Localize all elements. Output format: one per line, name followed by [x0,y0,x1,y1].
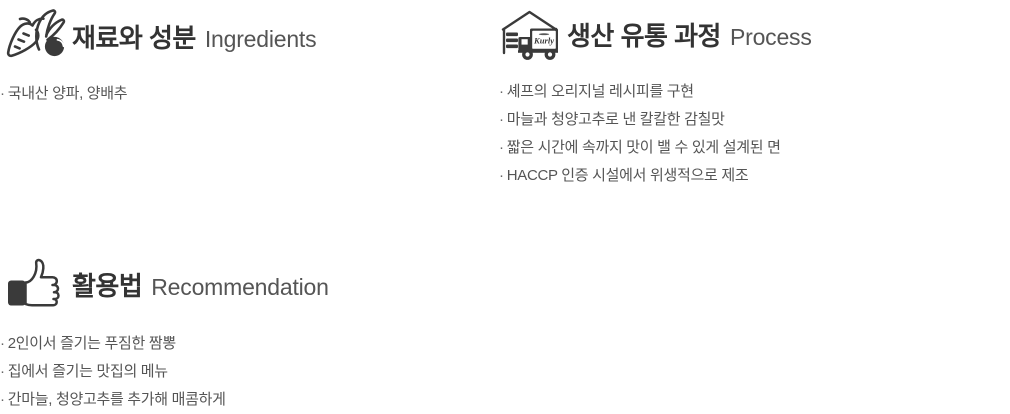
section-title-ko: 재료와 성분 [72,18,196,55]
list-item-text: 2인이서 즐기는 푸짐한 짬뽕 [8,330,176,358]
bullet-marker: · [499,106,504,134]
list-item: · 짧은 시간에 속까지 맛이 밸 수 있게 설계된 면 [499,134,812,162]
list-item-text: 집에서 즐기는 맛집의 메뉴 [8,358,168,386]
carrot-vegetables-icon [0,6,72,66]
section-header: Kurly 생산 유통 과정 Process [495,2,812,66]
truck-brand-label: Kurly [533,35,554,45]
list-item: · 국내산 양파, 양배추 [0,80,316,108]
bullet-marker: · [0,330,5,358]
delivery-truck-warehouse-icon: Kurly [495,4,567,64]
section-title-ko: 생산 유통 과정 [567,16,721,53]
list-item-text: 셰프의 오리지널 레시피를 구현 [507,78,694,106]
section-recommendation: 활용법 Recommendation · 2인이서 즐기는 푸짐한 짬뽕 · 집… [0,252,329,414]
bullet-marker: · [0,386,5,414]
section-title-ko: 활용법 [72,266,142,303]
list-item: · 셰프의 오리지널 레시피를 구현 [499,78,812,106]
section-title-en: Process [730,24,812,51]
section-title: 재료와 성분 Ingredients [72,18,316,55]
list-item-text: 마늘과 청양고추로 낸 칼칼한 감칠맛 [507,106,725,134]
ingredients-list: · 국내산 양파, 양배추 [0,80,316,108]
list-item-text: 간마늘, 청양고추를 추가해 매콤하게 [8,386,226,414]
list-item: · 마늘과 청양고추로 낸 칼칼한 감칠맛 [499,106,812,134]
thumbs-up-icon [0,254,72,314]
section-header: 활용법 Recommendation [0,252,329,316]
bullet-marker: · [0,80,5,108]
section-title: 생산 유통 과정 Process [567,16,812,53]
section-title: 활용법 Recommendation [72,266,329,303]
bullet-marker: · [499,78,504,106]
section-header: 재료와 성분 Ingredients [0,4,316,68]
section-title-en: Ingredients [205,26,317,53]
list-item: · 집에서 즐기는 맛집의 메뉴 [0,358,329,386]
list-item: · 2인이서 즐기는 푸짐한 짬뽕 [0,330,329,358]
list-item-text: 국내산 양파, 양배추 [8,80,128,108]
section-ingredients: 재료와 성분 Ingredients · 국내산 양파, 양배추 [0,4,316,108]
list-item: · HACCP 인증 시설에서 위생적으로 제조 [499,162,812,190]
bullet-marker: · [0,358,5,386]
list-item-text: HACCP 인증 시설에서 위생적으로 제조 [507,162,749,190]
bullet-marker: · [499,134,504,162]
section-title-en: Recommendation [151,274,328,301]
recommendation-list: · 2인이서 즐기는 푸짐한 짬뽕 · 집에서 즐기는 맛집의 메뉴 · 간마늘… [0,330,329,414]
section-process: Kurly 생산 유통 과정 Process · 셰프의 오리지널 레시피를 구… [495,2,812,190]
list-item-text: 짧은 시간에 속까지 맛이 밸 수 있게 설계된 면 [507,134,781,162]
list-item: · 간마늘, 청양고추를 추가해 매콤하게 [0,386,329,414]
process-list: · 셰프의 오리지널 레시피를 구현 · 마늘과 청양고추로 낸 칼칼한 감칠맛… [499,78,812,190]
bullet-marker: · [499,162,504,190]
